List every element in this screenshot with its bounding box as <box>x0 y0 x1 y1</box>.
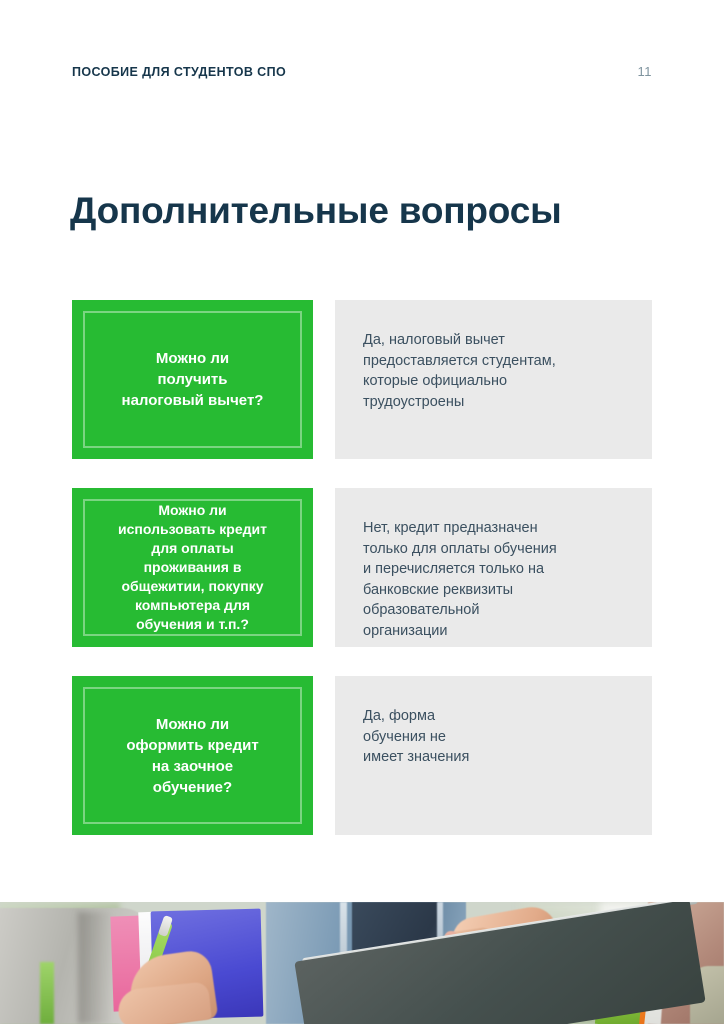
faq-item: Можно ли оформить кредит на заочное обуч… <box>72 676 652 835</box>
question-text: Можно ли оформить кредит на заочное обуч… <box>106 714 278 798</box>
answer-card: Да, налоговый вычет предоставляется студ… <box>335 300 652 459</box>
hoodie-shadow <box>78 912 112 1024</box>
photo-scene <box>0 902 724 1024</box>
answer-text: Да, форма обучения не имеет значения <box>363 706 624 768</box>
column-gap <box>313 300 335 459</box>
faq-item: Можно ли использовать кредит для оплаты … <box>72 488 652 647</box>
answer-card: Нет, кредит предназначен только для опла… <box>335 488 652 647</box>
question-text: Можно ли использовать кредит для оплаты … <box>98 501 287 634</box>
footer-photo <box>0 902 724 1024</box>
column-gap <box>313 676 335 835</box>
question-card: Можно ли получить налоговый вычет? <box>72 300 313 459</box>
answer-text: Да, налоговый вычет предоставляется студ… <box>363 330 624 412</box>
document-page: ПОСОБИЕ ДЛЯ СТУДЕНТОВ СПО 11 Дополнитель… <box>0 0 724 1024</box>
question-text: Можно ли получить налоговый вычет? <box>102 348 284 411</box>
answer-card: Да, форма обучения не имеет значения <box>335 676 652 835</box>
answer-text: Нет, кредит предназначен только для опла… <box>363 518 624 641</box>
faq-list: Можно ли получить налоговый вычет? Да, н… <box>72 300 652 835</box>
page-title: Дополнительные вопросы <box>70 188 590 234</box>
green-folder-edge <box>40 962 54 1024</box>
question-card: Можно ли оформить кредит на заочное обуч… <box>72 676 313 835</box>
header-title: ПОСОБИЕ ДЛЯ СТУДЕНТОВ СПО <box>72 65 286 79</box>
faq-item: Можно ли получить налоговый вычет? Да, н… <box>72 300 652 459</box>
page-number: 11 <box>638 64 653 79</box>
question-card: Можно ли использовать кредит для оплаты … <box>72 488 313 647</box>
column-gap <box>313 488 335 647</box>
page-header: ПОСОБИЕ ДЛЯ СТУДЕНТОВ СПО 11 <box>72 64 652 79</box>
